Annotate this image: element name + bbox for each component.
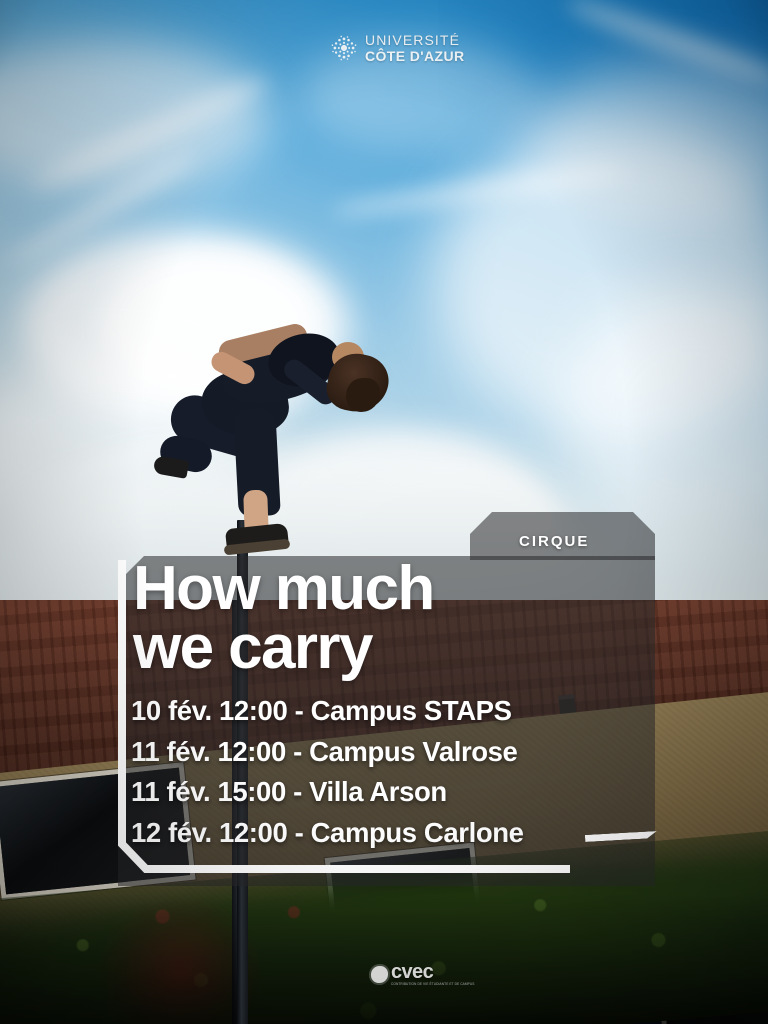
cvec-logo: cvec CONTRIBUTION DE VIE ÉTUDIANTE ET DE… — [371, 963, 474, 986]
cvec-subtitle: CONTRIBUTION DE VIE ÉTUDIANTE ET DE CAMP… — [391, 982, 474, 986]
universite-logo-text: UNIVERSITÉ CÔTE D'AZUR — [365, 33, 465, 63]
poster-title: How much we carry — [133, 560, 563, 678]
universite-logo-line1: UNIVERSITÉ — [365, 33, 465, 47]
universite-logo-line2: CÔTE D'AZUR — [365, 49, 465, 63]
poster-title-line2: we carry — [133, 619, 563, 678]
ground-shadow — [0, 894, 768, 1024]
cloud — [0, 40, 270, 190]
cvec-logo-text: cvec CONTRIBUTION DE VIE ÉTUDIANTE ET DE… — [391, 963, 474, 986]
poster: UNIVERSITÉ CÔTE D'AZUR CIRQUE How much w… — [0, 0, 768, 1024]
schedule-item: 10 fév. 12:00 - Campus STAPS — [131, 697, 601, 725]
acrobat-hair — [346, 378, 380, 412]
acrobat-figure — [150, 330, 410, 570]
cvec-wordmark: cvec — [391, 963, 474, 981]
universite-cote-dazur-logo: UNIVERSITÉ CÔTE D'AZUR — [330, 33, 465, 63]
category-tag: CIRQUE — [519, 533, 589, 550]
schedule-item: 11 fév. 12:00 - Campus Valrose — [131, 738, 601, 766]
schedule-list: 10 fév. 12:00 - Campus STAPS 11 fév. 12:… — [131, 697, 601, 859]
ellipse-mark-icon — [371, 966, 388, 983]
dot-sunburst-icon — [330, 34, 358, 62]
schedule-item: 11 fév. 15:00 - Villa Arson — [131, 778, 601, 806]
schedule-item: 12 fév. 12:00 - Campus Carlone — [131, 819, 601, 847]
